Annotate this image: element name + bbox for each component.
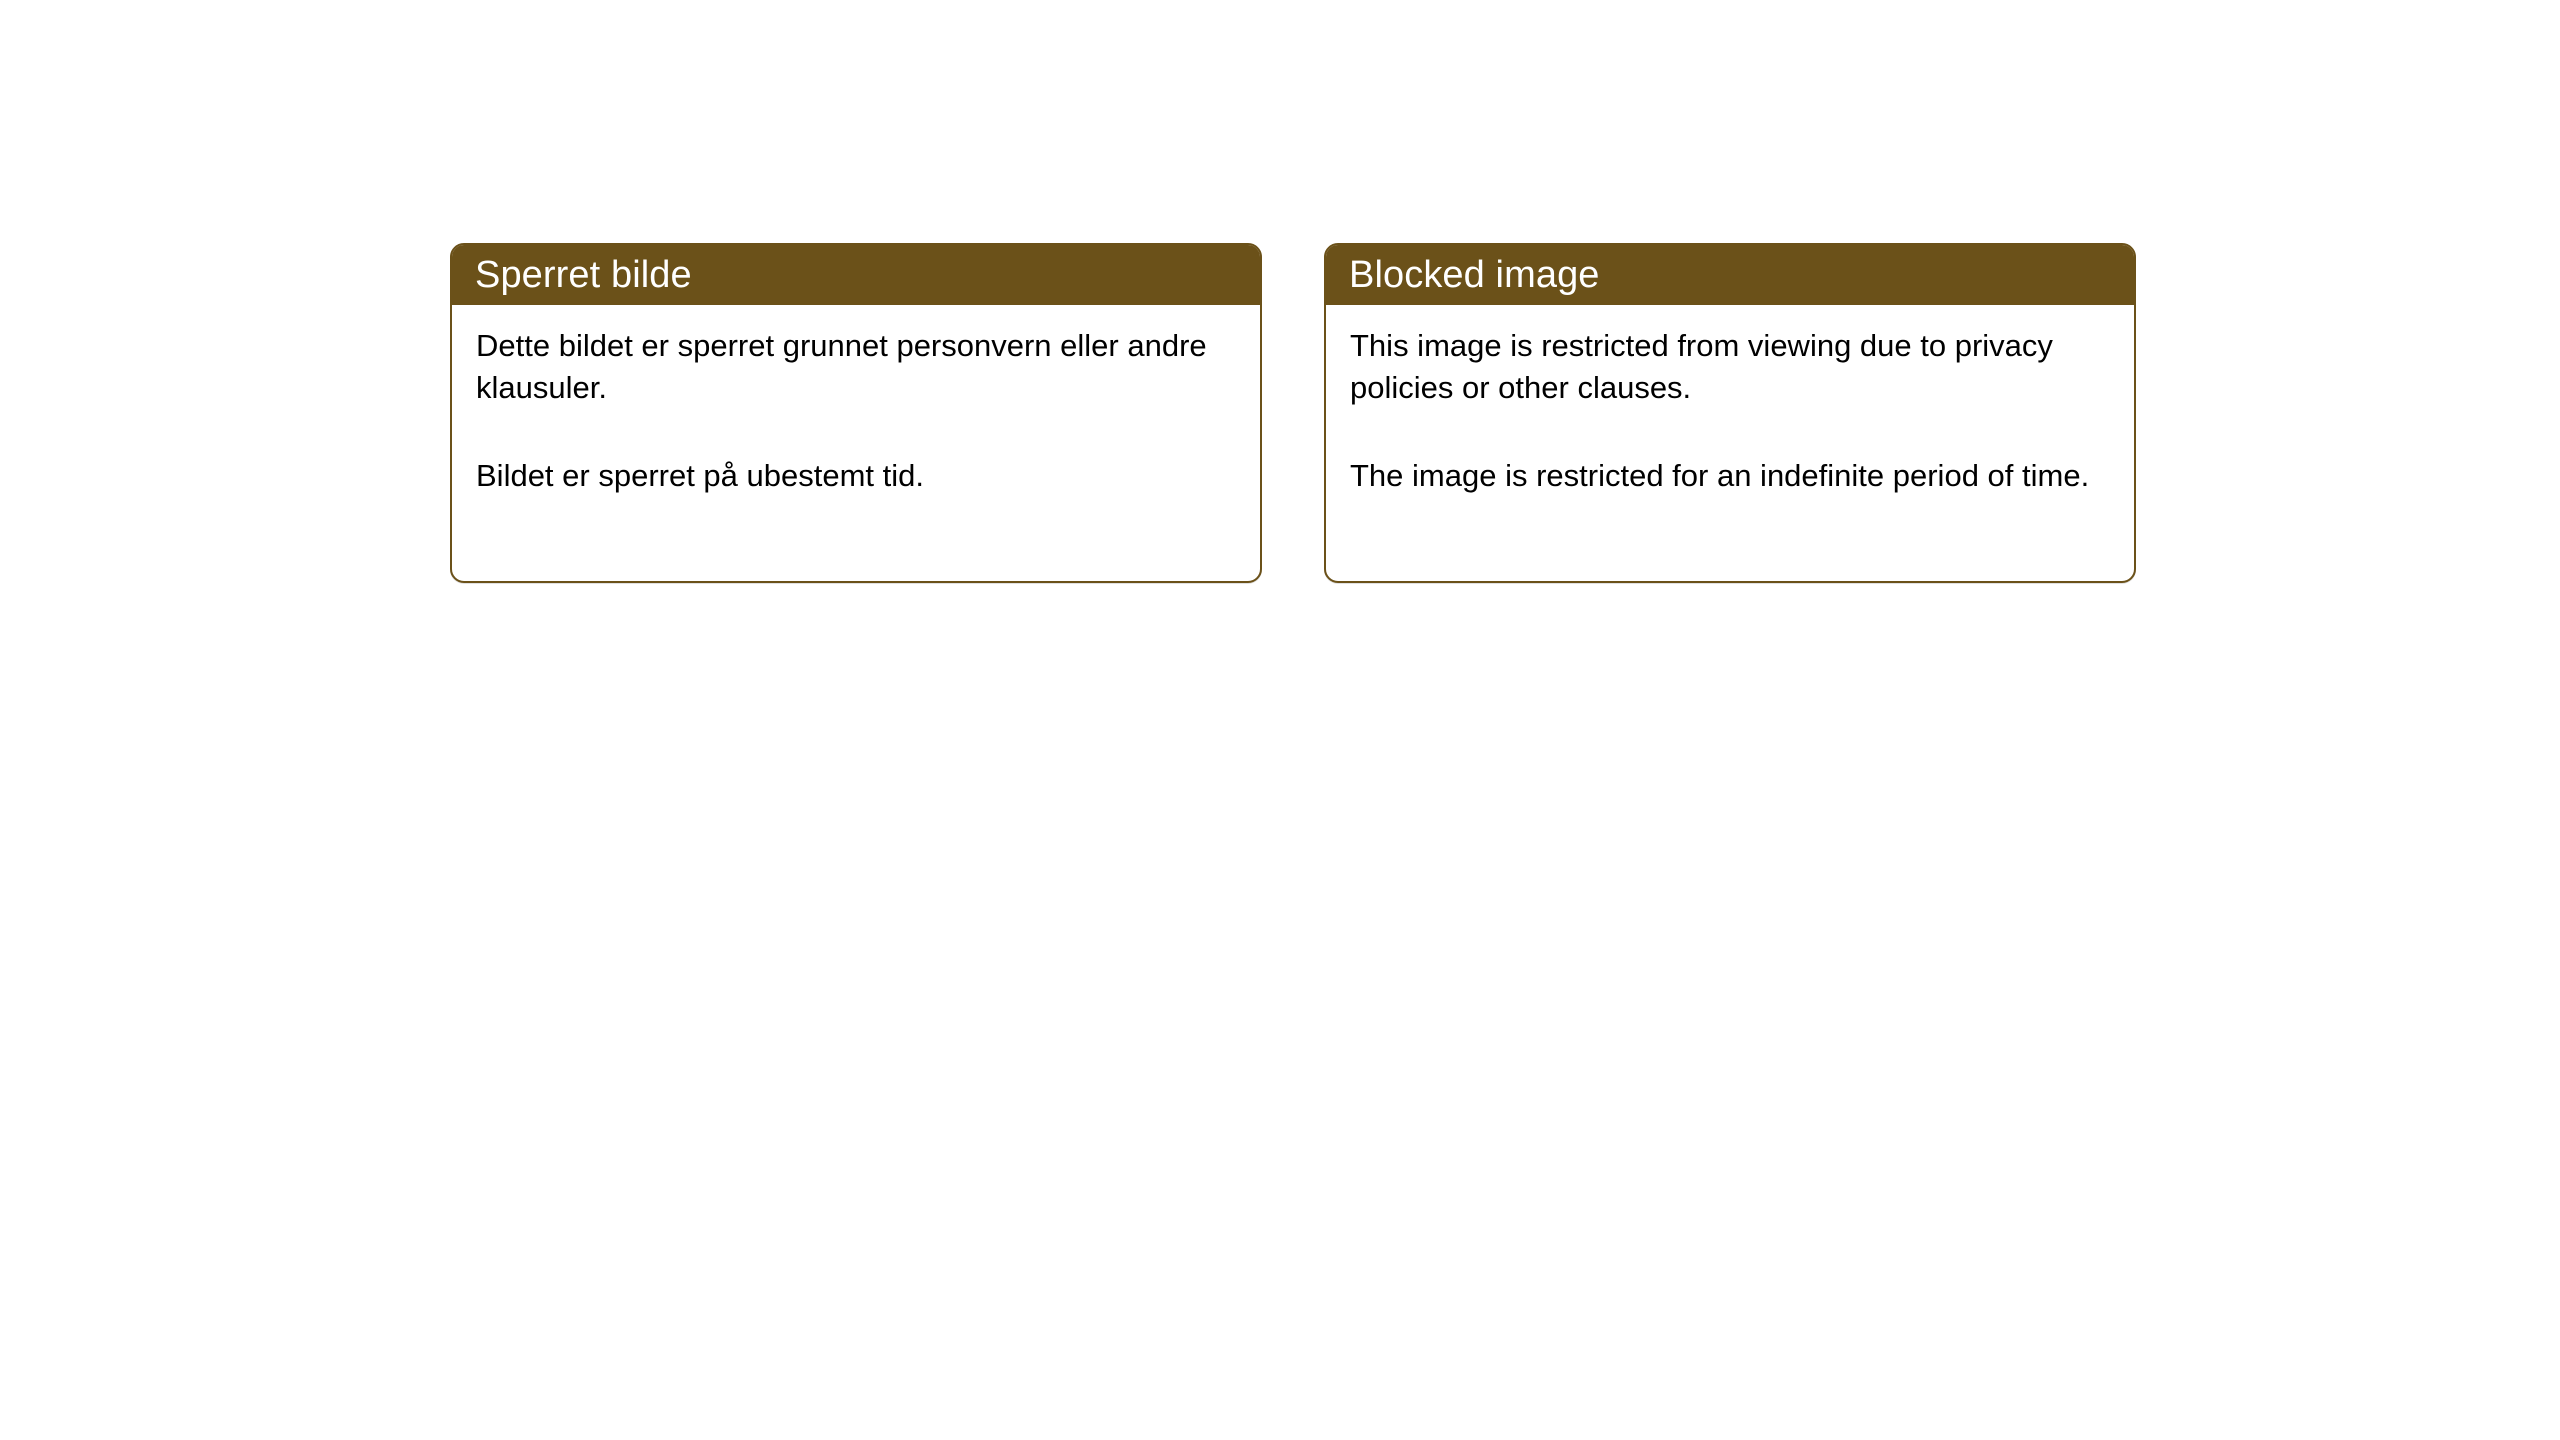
notice-paragraph-no-2: Bildet er sperret på ubestemt tid. xyxy=(476,455,1238,497)
notice-header-no: Sperret bilde xyxy=(452,245,1260,305)
notice-header-en: Blocked image xyxy=(1326,245,2134,305)
notice-title-en: Blocked image xyxy=(1349,256,1600,294)
blocked-image-notice-card-no: Sperret bilde Dette bildet er sperret gr… xyxy=(450,243,1262,583)
notice-paragraph-en-2: The image is restricted for an indefinit… xyxy=(1350,455,2112,497)
notice-body-no: Dette bildet er sperret grunnet personve… xyxy=(452,305,1260,515)
page-root: Sperret bilde Dette bildet er sperret gr… xyxy=(0,0,2560,1440)
notice-title-no: Sperret bilde xyxy=(475,256,692,294)
notice-paragraph-no-1: Dette bildet er sperret grunnet personve… xyxy=(476,325,1238,410)
notice-body-en: This image is restricted from viewing du… xyxy=(1326,305,2134,515)
blocked-image-notice-group: Sperret bilde Dette bildet er sperret gr… xyxy=(450,243,2136,583)
notice-paragraph-en-1: This image is restricted from viewing du… xyxy=(1350,325,2112,410)
blocked-image-notice-card-en: Blocked image This image is restricted f… xyxy=(1324,243,2136,583)
